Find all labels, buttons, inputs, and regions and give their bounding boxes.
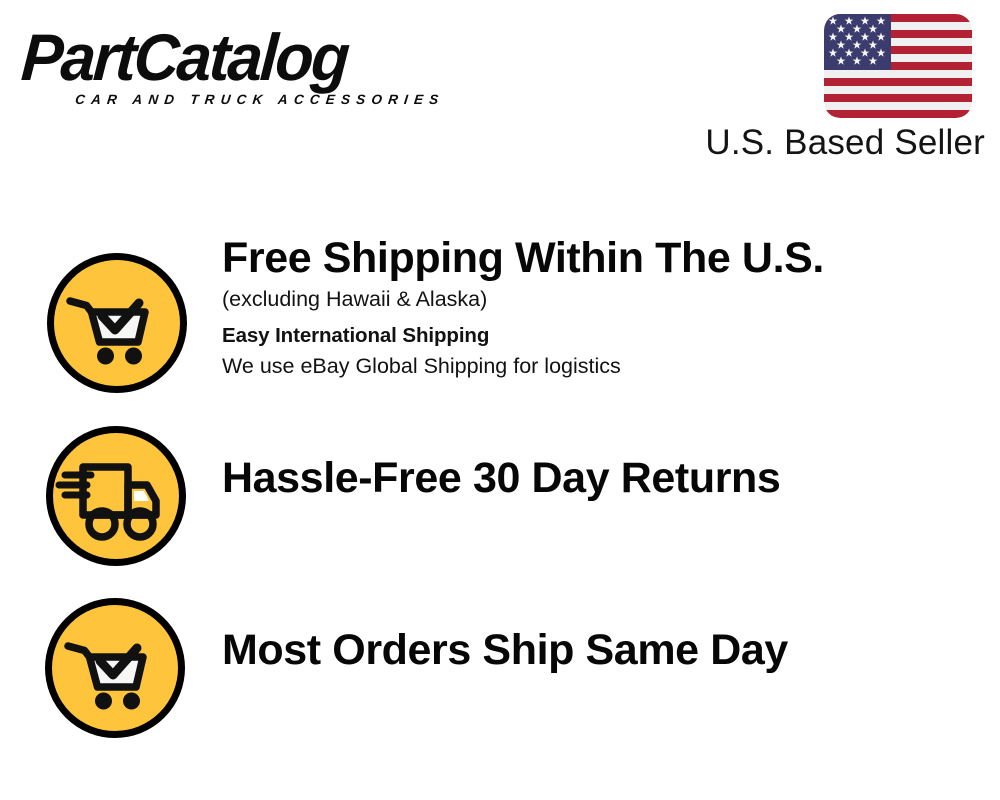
feature-text: Free Shipping Within The U.S. (excluding… [222, 232, 982, 381]
spacer [222, 314, 982, 321]
feature-heading: Free Shipping Within The U.S. [222, 232, 982, 284]
us-flag-icon [824, 14, 972, 118]
shopping-cart-check-icon [44, 250, 190, 396]
feature-text: Most Orders Ship Same Day [222, 624, 982, 676]
feature-heading: Most Orders Ship Same Day [222, 624, 982, 676]
feature-subline: (excluding Hawaii & Alaska) [222, 284, 982, 314]
brand-wordmark: PartCatalog [19, 22, 349, 92]
feature-subline: We use eBay Global Shipping for logistic… [222, 351, 982, 381]
shopping-cart-check-icon [42, 595, 188, 741]
feature-text: Hassle-Free 30 Day Returns [222, 452, 982, 504]
delivery-truck-icon [43, 423, 189, 569]
feature-row: Free Shipping Within The U.S. (excluding… [0, 232, 1000, 412]
brand-tagline: CAR AND TRUCK ACCESSORIES [74, 92, 445, 107]
feature-row: Hassle-Free 30 Day Returns [0, 420, 1000, 572]
brand-logo: PartCatalog CAR AND TRUCK ACCESSORIES [24, 22, 494, 117]
seller-badge: U.S. Based Seller [705, 10, 985, 158]
feature-heading: Hassle-Free 30 Day Returns [222, 452, 982, 504]
banner-header: PartCatalog CAR AND TRUCK ACCESSORIES [0, 0, 1000, 175]
feature-subline-bold: Easy International Shipping [222, 321, 982, 351]
seller-label: U.S. Based Seller [705, 123, 985, 163]
feature-row: Most Orders Ship Same Day [0, 592, 1000, 744]
